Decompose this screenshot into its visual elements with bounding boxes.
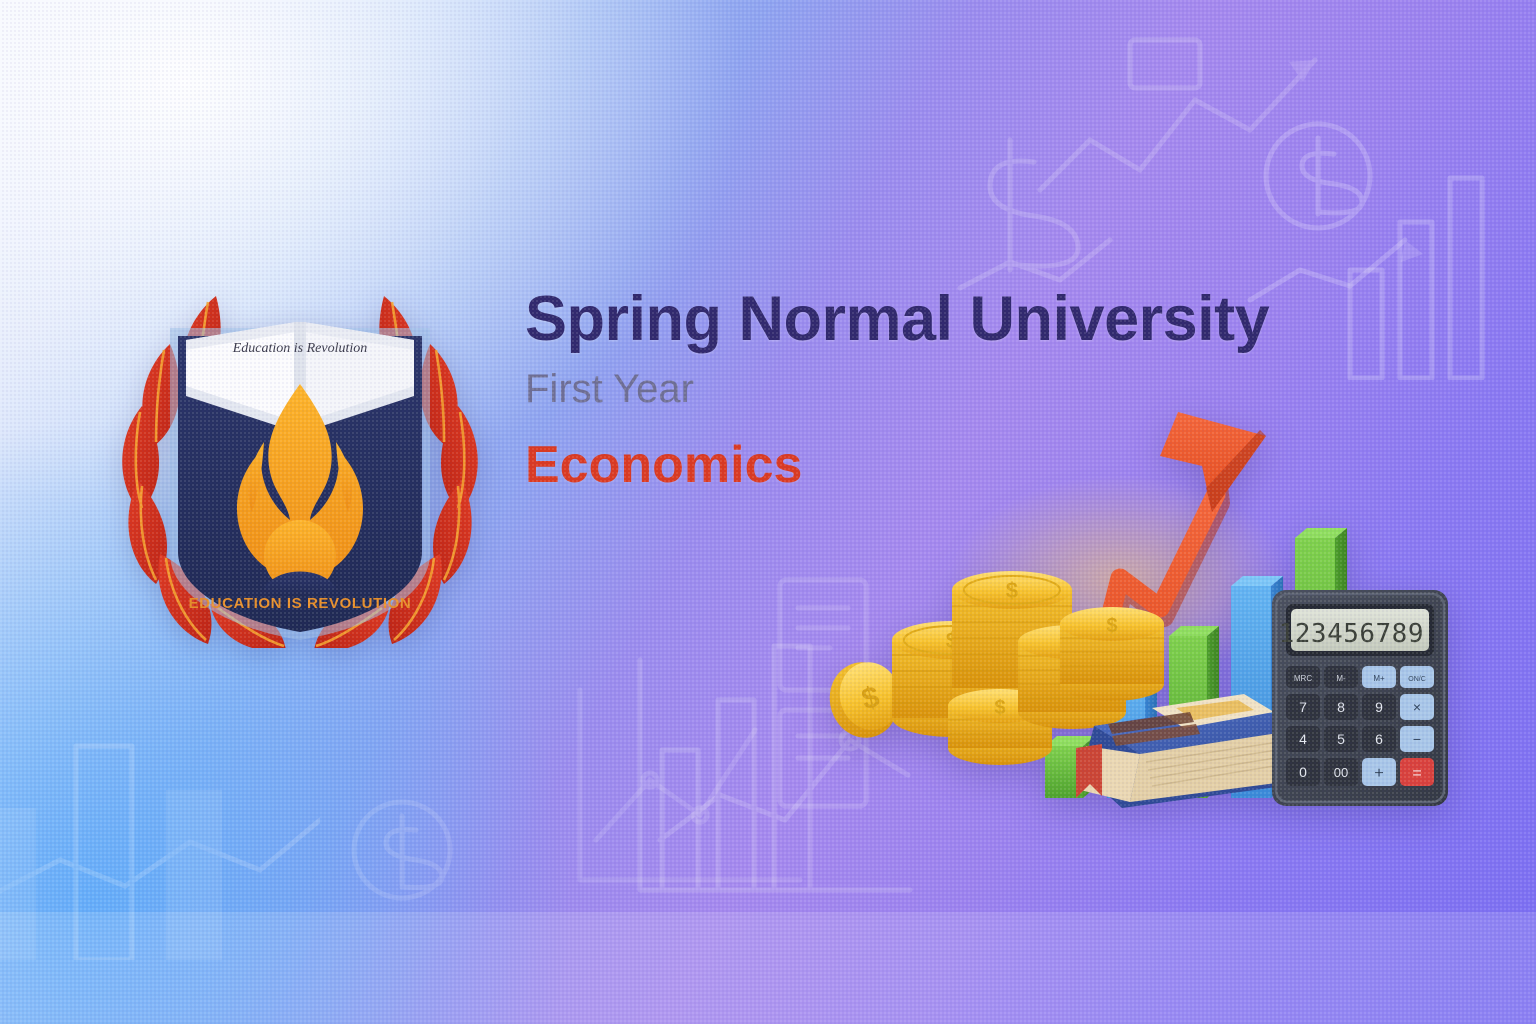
calc-key-9: 9 — [1362, 694, 1396, 720]
calc-key-multiply: × — [1400, 694, 1434, 720]
calc-key-mrc: MRC — [1286, 666, 1320, 688]
calc-key-equals: = — [1400, 758, 1434, 786]
calc-key-5: 5 — [1324, 726, 1358, 752]
crest-book-motto: Education is Revolution — [232, 341, 368, 356]
calc-key-minus: − — [1400, 726, 1434, 752]
svg-text:×: × — [1413, 699, 1421, 715]
watermark-line-graph-top — [1030, 20, 1330, 220]
svg-text:5: 5 — [1337, 731, 1345, 747]
svg-text:$: $ — [1106, 615, 1117, 637]
calculator: 123456789 MRC M- M+ ON/C 7 — [1272, 590, 1448, 806]
calc-key-0: 0 — [1286, 758, 1320, 786]
watermark-dollar-mid-right — [950, 110, 1120, 300]
bottom-band — [0, 912, 1536, 1024]
calc-key-double-zero: 00 — [1324, 758, 1358, 786]
calc-key-plus: + — [1362, 758, 1396, 786]
svg-text:ON/C: ON/C — [1408, 676, 1426, 683]
svg-text:7: 7 — [1299, 699, 1307, 715]
svg-text:0: 0 — [1299, 764, 1307, 780]
page-title: Spring Normal University — [525, 286, 1385, 353]
svg-text:=: = — [1412, 765, 1421, 782]
coin-stack-e: $ — [1060, 607, 1164, 701]
svg-text:00: 00 — [1334, 765, 1348, 780]
economics-illustration: $ $ — [820, 400, 1500, 850]
calc-key-m-plus: M+ — [1362, 666, 1396, 688]
svg-text:+: + — [1374, 765, 1383, 782]
svg-text:M-: M- — [1336, 674, 1346, 683]
calc-key-on-c: ON/C — [1400, 666, 1434, 688]
watermark-dollar-upper-right — [1230, 80, 1430, 310]
calc-key-m-minus: M- — [1324, 666, 1358, 688]
calc-key-7: 7 — [1286, 694, 1320, 720]
svg-text:$: $ — [994, 697, 1005, 719]
calculator-display: 123456789 — [1279, 619, 1424, 649]
calc-key-6: 6 — [1362, 726, 1396, 752]
svg-text:8: 8 — [1337, 699, 1345, 715]
svg-text:4: 4 — [1299, 731, 1307, 747]
crest-banner-motto: EDUCATION IS REVOLUTION — [189, 595, 412, 612]
svg-text:M+: M+ — [1373, 674, 1385, 683]
svg-text:9: 9 — [1375, 699, 1383, 715]
svg-text:MRC: MRC — [1294, 674, 1312, 683]
calc-key-4: 4 — [1286, 726, 1320, 752]
svg-text:$: $ — [1006, 578, 1018, 603]
university-crest: Education is Revolution EDUCATION IS REV… — [98, 236, 502, 648]
calc-key-8: 8 — [1324, 694, 1358, 720]
svg-text:−: − — [1413, 731, 1421, 747]
course-banner: Education is Revolution EDUCATION IS REV… — [0, 0, 1536, 1024]
svg-text:6: 6 — [1375, 731, 1383, 747]
watermark-graph-mid — [560, 660, 820, 910]
